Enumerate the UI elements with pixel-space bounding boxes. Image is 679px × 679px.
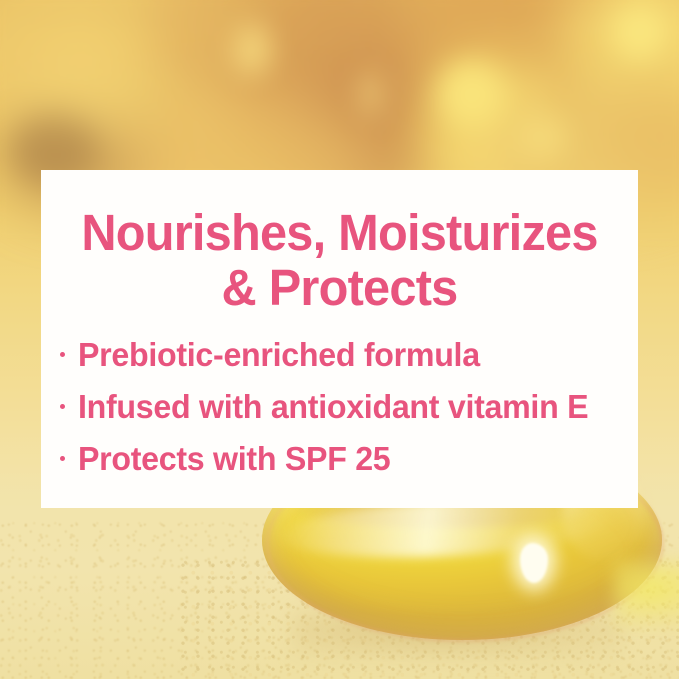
list-item: Prebiotic-enriched formula xyxy=(60,338,638,371)
list-item-label: Infused with antioxidant vitamin E xyxy=(78,390,588,423)
bokeh-highlight xyxy=(520,118,566,158)
benefits-list: Prebiotic-enriched formula Infused with … xyxy=(41,315,638,475)
bullet-dot-icon xyxy=(60,404,65,409)
list-item-label: Prebiotic-enriched formula xyxy=(78,338,480,371)
list-item: Protects with SPF 25 xyxy=(60,442,638,475)
capsule-bounce-light xyxy=(614,560,679,630)
bokeh-highlight xyxy=(440,62,502,124)
card-headline: Nourishes, Moisturizes & Protects xyxy=(54,170,624,315)
bokeh-highlight xyxy=(358,70,384,118)
list-item: Infused with antioxidant vitamin E xyxy=(60,390,638,423)
product-marketing-image: Nourishes, Moisturizes & Protects Prebio… xyxy=(0,0,679,679)
list-item-label: Protects with SPF 25 xyxy=(78,442,390,475)
bullet-dot-icon xyxy=(60,352,65,357)
bokeh-highlight xyxy=(612,4,668,60)
bullet-dot-icon xyxy=(60,456,65,461)
benefits-card: Nourishes, Moisturizes & Protects Prebio… xyxy=(41,170,638,508)
bokeh-highlight xyxy=(232,24,272,76)
